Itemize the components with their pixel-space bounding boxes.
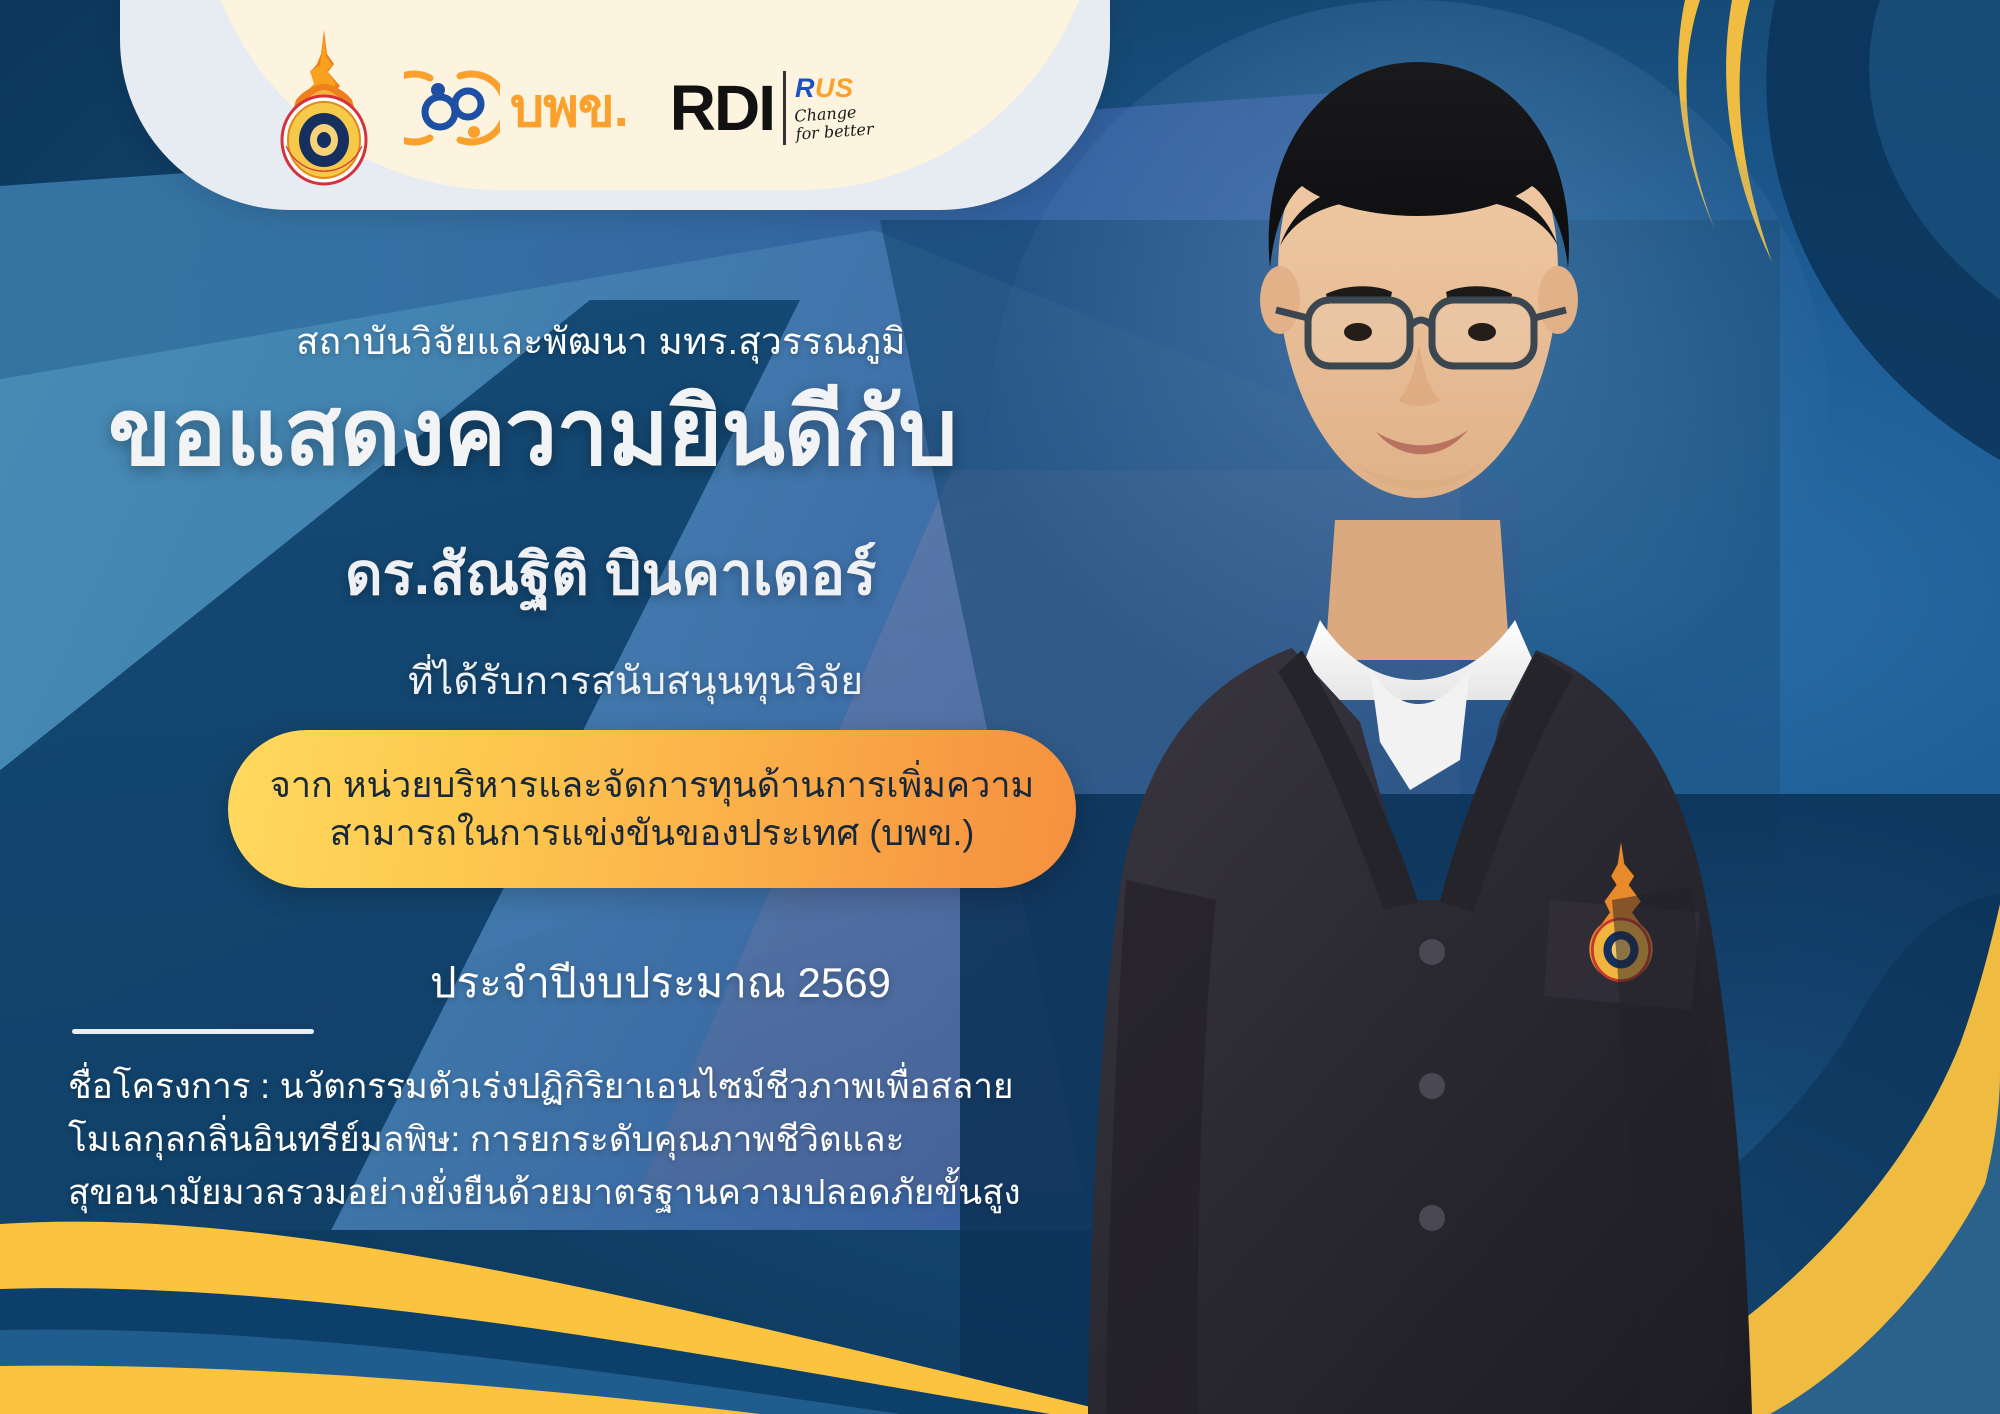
funder-pill: จาก หน่วยบริหารและจัดการทุนด้านการเพิ่มค… xyxy=(228,730,1076,888)
banner-canvas: บพข. RDI RUS Change for better สถาบันวิจ… xyxy=(0,0,2000,1414)
project-line-2: โมเลกุลกลิ่นอินทรีย์มลพิษ: การยกระดับคุณ… xyxy=(68,1113,1148,1166)
subtitle-line: ที่ได้รับการสนับสนุนทุนวิจัย xyxy=(408,650,863,712)
person-name: ดร.สัณฐิติ บินคาเดอร์ xyxy=(345,540,876,610)
page-title: ขอแสดงความยินดีกับ xyxy=(108,380,957,484)
content-column: สถาบันวิจัยและพัฒนา มทร.สุวรรณภูมิ ขอแสด… xyxy=(0,0,1180,1414)
funder-line-1: จาก หน่วยบริหารและจัดการทุนด้านการเพิ่มค… xyxy=(270,761,1035,809)
organization-line: สถาบันวิจัยและพัฒนา มทร.สุวรรณภูมิ xyxy=(296,312,906,371)
project-line-1: ชื่อโครงการ : นวัตกรรมตัวเร่งปฏิกิริยาเอ… xyxy=(68,1060,1148,1113)
divider-rule xyxy=(72,1029,314,1034)
project-title-block: ชื่อโครงการ : นวัตกรรมตัวเร่งปฏิกิริยาเอ… xyxy=(68,1060,1148,1220)
project-line-3: สุขอนามัยมวลรวมอย่างยั่งยืนด้วยมาตรฐานคว… xyxy=(68,1166,1148,1219)
fiscal-year-line: ประจำปีงบประมาณ 2569 xyxy=(430,950,891,1016)
funder-line-2: สามารถในการแข่งขันของประเทศ (บพข.) xyxy=(330,809,975,857)
